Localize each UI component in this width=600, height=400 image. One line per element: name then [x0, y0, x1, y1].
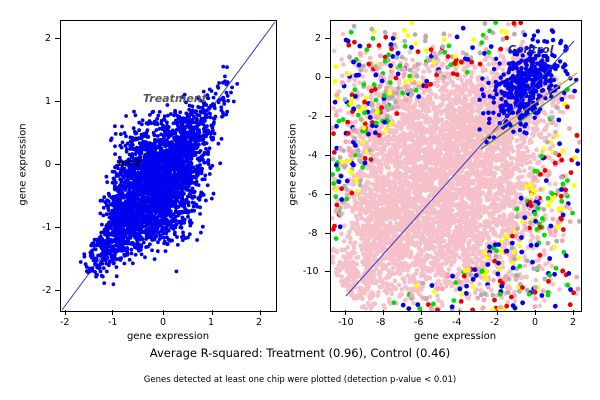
tickmark: [325, 77, 330, 78]
tick-label: -10: [338, 317, 354, 328]
tickmark: [459, 310, 460, 315]
tickmark: [65, 310, 66, 315]
tick-label: -4: [308, 150, 317, 161]
tick-label: 2: [315, 33, 321, 44]
tick-label: 0: [45, 159, 51, 170]
tick-label: -2: [308, 111, 317, 122]
tickmark: [535, 310, 536, 315]
tick-label: -2: [490, 317, 499, 328]
tickmark: [325, 271, 330, 272]
tickmark: [260, 310, 261, 315]
tick-label: -2: [60, 317, 69, 328]
treatment-ylabel: gene expression: [18, 105, 29, 225]
treatment-xlabel: gene expression: [108, 331, 228, 342]
tickmark: [112, 310, 113, 315]
control-annotation-label: Control: [508, 43, 553, 56]
tick-label: -6: [308, 189, 317, 200]
tick-label: -6: [414, 317, 423, 328]
tickmark: [497, 310, 498, 315]
tickmark: [325, 233, 330, 234]
sub-caption: Genes detected at least one chip were pl…: [0, 375, 600, 385]
tick-label: 0: [532, 317, 538, 328]
tickmark: [383, 310, 384, 315]
tickmark: [325, 38, 330, 39]
tick-label: -2: [42, 285, 51, 296]
tickmark: [573, 310, 574, 315]
tick-label: 2: [45, 33, 51, 44]
treatment-scatter-svg: [61, 21, 276, 311]
control-scatter-svg: [331, 21, 581, 311]
treatment-annotation-n: n=2: [118, 158, 140, 169]
tick-label: -1: [42, 222, 51, 233]
control-xlabel: gene expression: [395, 331, 515, 342]
tickmark: [325, 194, 330, 195]
tick-label: 2: [570, 317, 576, 328]
tickmark: [55, 38, 60, 39]
tick-label: 0: [315, 72, 321, 83]
tick-label: 0: [160, 317, 166, 328]
tick-label: -1: [108, 317, 117, 328]
tick-label: 1: [208, 317, 214, 328]
tickmark: [325, 155, 330, 156]
tickmark: [325, 116, 330, 117]
tickmark: [212, 310, 213, 315]
tick-label: -8: [308, 228, 317, 239]
tick-label: 2: [256, 317, 262, 328]
treatment-plot-area: [60, 20, 277, 312]
tick-label: 1: [45, 96, 51, 107]
tick-label: -10: [303, 266, 319, 277]
control-plot-area: [330, 20, 582, 312]
tickmark: [55, 290, 60, 291]
tick-label: -4: [452, 317, 461, 328]
tick-label: -8: [376, 317, 385, 328]
control-ylabel: gene expression: [288, 105, 299, 225]
tickmark: [163, 310, 164, 315]
treatment-annotation-label: Treatment: [143, 92, 207, 105]
tickmark: [55, 227, 60, 228]
tickmark: [421, 310, 422, 315]
main-caption: Average R-squared: Treatment (0.96), Con…: [0, 346, 600, 360]
tickmark: [55, 164, 60, 165]
tickmark: [345, 310, 346, 315]
tickmark: [55, 101, 60, 102]
